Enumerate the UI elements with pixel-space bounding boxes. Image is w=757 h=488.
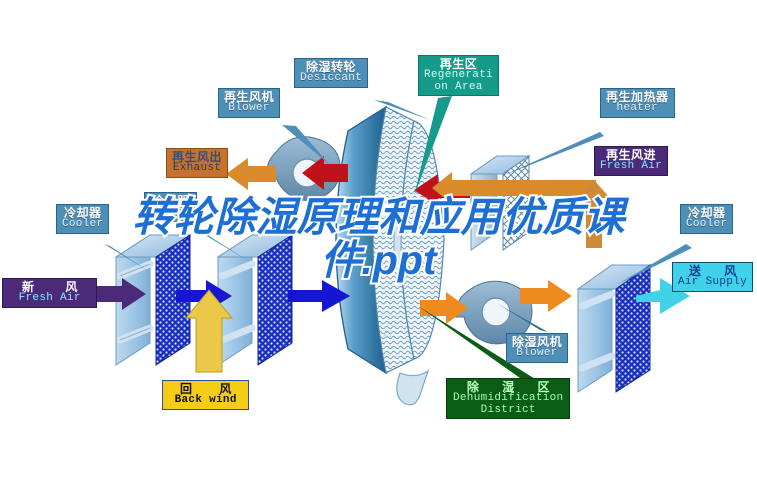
watermark-title: 转轮除湿原理和应用优质课 件.ppt [0, 196, 757, 281]
label-regeneration-area: 再生区 Regenerati on Area [418, 55, 499, 96]
label-dehum-blower-en: Blower [512, 348, 562, 359]
label-regen-heater: 再生加热器 heater [600, 88, 675, 118]
label-dehum-district-en-2: District [453, 405, 563, 416]
label-dehumidification-district: 除 湿 区 Dehumidification District [446, 378, 570, 419]
label-dehum-blower: 除湿风机 Blower [506, 333, 568, 363]
label-exhaust: 再生风出 Exhaust [166, 148, 228, 178]
cooler-coil-right [578, 265, 650, 392]
label-desiccant: 除湿转轮 Desiccant [294, 58, 368, 88]
label-regen-blower: 再生风机 Blower [218, 88, 280, 118]
label-back-wind-en: Back wind [168, 395, 243, 406]
label-fresh-air: 新 风 Fresh Air [2, 278, 97, 308]
label-regen-heater-en: heater [606, 103, 669, 114]
label-desiccant-en: Desiccant [300, 73, 362, 84]
label-regen-blower-en: Blower [224, 103, 274, 114]
watermark-title-line1: 转轮除湿原理和应用优质课 [133, 194, 625, 240]
dehumidifier-diagram: xt 除湿转轮 Desiccant 再生风机 Blower 再生区 Regene… [0, 0, 757, 488]
label-regen-fresh-air: 再生风进 Fresh Air [594, 146, 668, 176]
label-regeneration-area-en-2: on Area [424, 82, 493, 93]
watermark-title-line2: 件.ppt [0, 239, 757, 282]
rotor-watermark: xt [382, 329, 395, 341]
label-back-wind: 回 风 Back wind [162, 380, 249, 410]
label-regen-fresh-air-en: Fresh Air [600, 161, 662, 172]
label-fresh-air-en: Fresh Air [8, 293, 91, 304]
label-exhaust-en: Exhaust [172, 163, 222, 174]
